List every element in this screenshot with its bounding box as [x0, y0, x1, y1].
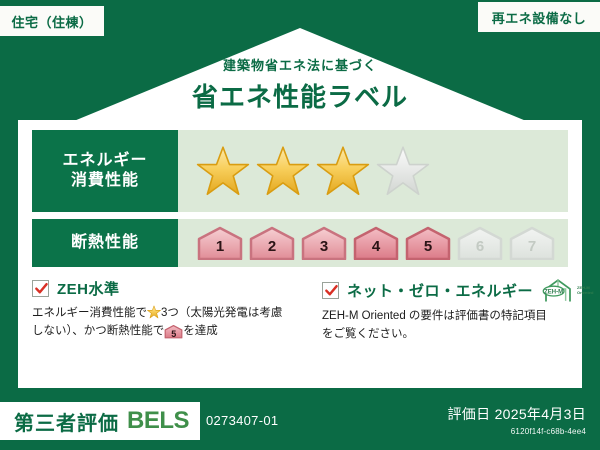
insulation-level-badge-2: 2 — [248, 226, 296, 260]
nzeb-criterion: ネット・ゼロ・エネルギー ZEH-M ZEH-M Oriented — [300, 278, 568, 374]
zeh-m-logo-caption: ZEH-M Oriented — [577, 285, 593, 295]
energy-performance-label: エネルギー 消費性能 — [32, 130, 178, 212]
title-main: 省エネ性能ラベル — [0, 77, 600, 114]
building-type-tag-label: 住宅（住棟） — [11, 12, 92, 31]
renewable-energy-tag-label: 再エネ設備なし — [492, 8, 587, 27]
insulation-level-value-2: 2 — [268, 239, 276, 260]
energy-performance-row: エネルギー 消費性能 — [32, 130, 568, 212]
insulation-level-value-3: 3 — [320, 239, 328, 260]
insulation-level-value-4: 4 — [372, 239, 380, 260]
zeh-m-house-icon: ZEH-M — [541, 278, 575, 302]
zeh-criterion-body: エネルギー消費性能で3つ（太陽光発電は考慮しない）、かつ断熱性能で5を達成 — [32, 305, 290, 341]
zeh-body-post: を達成 — [183, 325, 218, 337]
evaluation-id: 6120f14f-c68b-4ee4 — [447, 427, 586, 436]
zeh-criterion-header: ZEH水準 — [32, 278, 290, 299]
check-icon — [324, 283, 339, 298]
energy-performance-label-line2: 消費性能 — [71, 171, 139, 191]
label-footer: 第三者評価 BELS 0273407-01 評価日 2025年4月3日 6120… — [0, 392, 600, 450]
bels-badge-en: BELS — [127, 407, 189, 435]
star-rating — [196, 144, 430, 198]
bels-badge-jp: 第三者評価 — [14, 407, 119, 436]
insulation-performance-label-line1: 断熱性能 — [71, 233, 139, 253]
insulation-level-value-6: 6 — [476, 239, 484, 260]
insulation-level-scale: 1 2 3 — [196, 226, 556, 260]
evaluation-info: 評価日 2025年4月3日 6120f14f-c68b-4ee4 — [447, 404, 586, 436]
zeh-m-logo: ZEH-M ZEH-M Oriented — [541, 278, 593, 302]
insulation-level-badge-3: 3 — [300, 226, 348, 260]
insulation-level-badge-1: 1 — [196, 226, 244, 260]
label-card: エネルギー 消費性能 — [18, 120, 582, 388]
star-icon-filled-1 — [196, 144, 250, 198]
energy-performance-label-line1: エネルギー — [62, 151, 147, 171]
bels-badge: 第三者評価 BELS — [0, 402, 200, 440]
zeh-criterion: ZEH水準 エネルギー消費性能で3つ（太陽光発電は考慮しない）、かつ断熱性能で5… — [32, 278, 300, 374]
zeh-checkbox[interactable] — [32, 280, 49, 297]
star-icon-empty-4 — [376, 144, 430, 198]
insulation-level-value-7: 7 — [528, 239, 536, 260]
insulation-level-badge-inline: 5 — [164, 324, 183, 339]
criteria-section: ZEH水準 エネルギー消費性能で3つ（太陽光発電は考慮しない）、かつ断熱性能で5… — [32, 278, 568, 374]
evaluation-date-label: 評価日 — [447, 406, 490, 422]
label-title: 建築物省エネ法に基づく 省エネ性能ラベル — [0, 55, 600, 114]
zeh-m-logo-text: ZEH-M — [544, 289, 563, 295]
insulation-level-badge-7: 7 — [508, 226, 556, 260]
evaluation-date-value: 2025年4月3日 — [495, 406, 586, 422]
nzeb-checkbox[interactable] — [322, 282, 339, 299]
insulation-level-badge-6: 6 — [456, 226, 504, 260]
insulation-level-value-1: 1 — [216, 239, 224, 260]
building-type-tag: 住宅（住棟） — [0, 6, 104, 36]
insulation-level-value-5: 5 — [424, 239, 432, 260]
insulation-performance-value: 1 2 3 — [178, 219, 568, 267]
renewable-energy-tag: 再エネ設備なし — [478, 2, 600, 32]
check-icon — [34, 281, 49, 296]
insulation-performance-row: 断熱性能 — [32, 219, 568, 267]
insulation-level-badge-4: 4 — [352, 226, 400, 260]
evaluation-date: 評価日 2025年4月3日 — [447, 404, 586, 424]
zeh-m-caption-line2: Oriented — [577, 290, 593, 295]
star-icon-inline — [147, 305, 161, 319]
nzeb-criterion-header: ネット・ゼロ・エネルギー ZEH-M ZEH-M Oriented — [322, 278, 558, 302]
nzeb-criterion-title: ネット・ゼロ・エネルギー — [347, 280, 533, 301]
insulation-level-badge-5: 5 — [404, 226, 452, 260]
zeh-body-pre: エネルギー消費性能で — [32, 307, 147, 319]
insulation-performance-label: 断熱性能 — [32, 219, 178, 267]
zeh-criterion-title: ZEH水準 — [57, 278, 120, 299]
star-icon-filled-3 — [316, 144, 370, 198]
bels-number: 0273407-01 — [206, 413, 278, 428]
energy-performance-value — [178, 130, 568, 212]
nzeb-criterion-body: ZEH-M Oriented の要件は評価書の特記項目をご覧ください。 — [322, 308, 558, 344]
insulation-level-inline-value: 5 — [164, 324, 183, 342]
energy-performance-label: 住宅（住棟） 再エネ設備なし 建築物省エネ法に基づく 省エネ性能ラベル エネルギ… — [0, 0, 600, 450]
title-subtitle: 建築物省エネ法に基づく — [0, 55, 600, 74]
star-icon-filled-2 — [256, 144, 310, 198]
